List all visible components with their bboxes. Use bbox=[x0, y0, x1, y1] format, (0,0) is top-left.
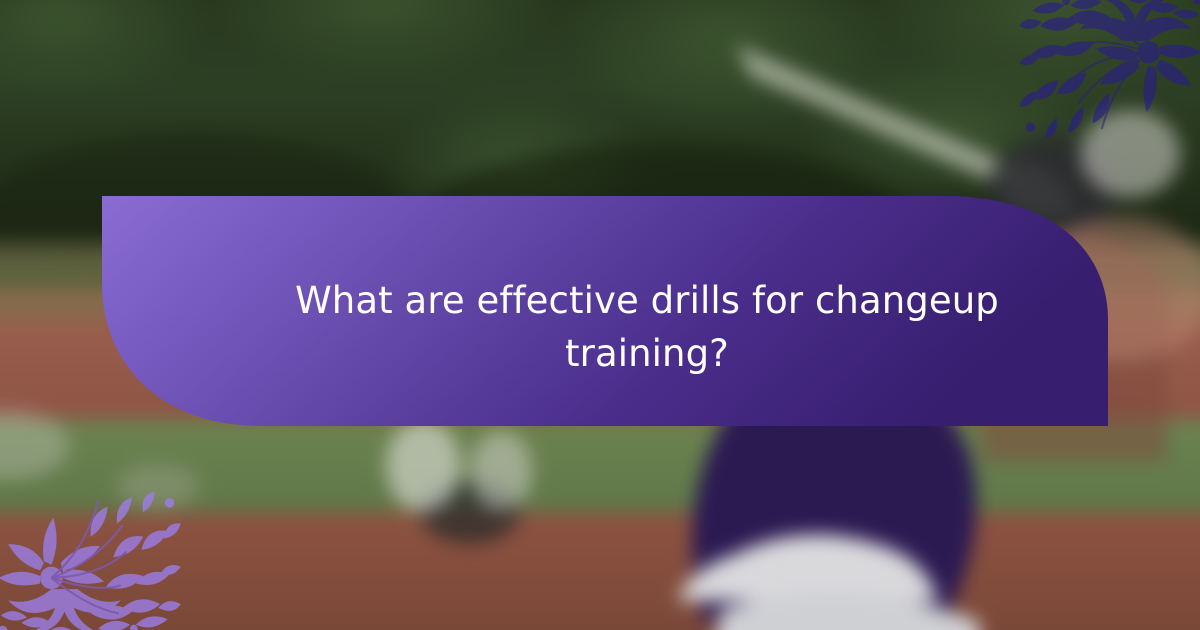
headline-line-2: training? bbox=[252, 327, 1042, 380]
headline-text: What are effective drills for changeup t… bbox=[252, 274, 1042, 380]
headline-banner: What are effective drills for changeup t… bbox=[92, 188, 1108, 436]
social-card: What are effective drills for changeup t… bbox=[0, 0, 1200, 630]
headline-line-1: What are effective drills for changeup bbox=[252, 274, 1042, 327]
